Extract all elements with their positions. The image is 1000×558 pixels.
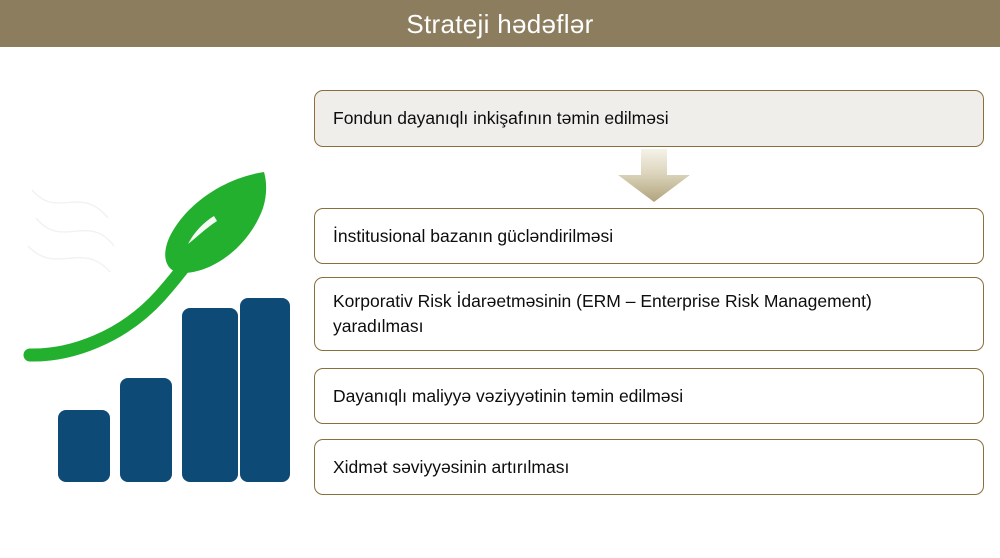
- down-arrow-icon: [616, 149, 692, 202]
- goal-box-3[interactable]: Dayanıqlı maliyyə vəziyyətinin təmin edi…: [314, 368, 984, 424]
- goal-box-1[interactable]: İnstitusional bazanın gücləndirilməsi: [314, 208, 984, 264]
- slide-header-band: Strateji hədəflər: [0, 0, 1000, 47]
- down-arrow-svg: [616, 149, 692, 202]
- growth-chart-leaf-graphic: [18, 160, 290, 482]
- background-sketch: [28, 190, 114, 272]
- slide-canvas: Strateji hədəflər Fondun dayanıqlı ink: [0, 0, 1000, 558]
- green-leaf: [165, 172, 266, 273]
- goal-box-primary[interactable]: Fondun dayanıqlı inkişafının təmin edilm…: [314, 90, 984, 147]
- page-title: Strateji hədəflər: [406, 11, 593, 37]
- growth-chart-svg: [18, 160, 290, 482]
- goal-box-primary-label: Fondun dayanıqlı inkişafının təmin edilm…: [333, 106, 669, 131]
- goal-box-2[interactable]: Korporativ Risk İdarəetməsinin (ERM – En…: [314, 277, 984, 351]
- chart-bar-2: [120, 378, 172, 482]
- goal-box-2-label: Korporativ Risk İdarəetməsinin (ERM – En…: [333, 289, 965, 339]
- goal-box-4[interactable]: Xidmət səviyyəsinin artırılması: [314, 439, 984, 495]
- chart-bar-3: [182, 308, 238, 482]
- goal-box-3-label: Dayanıqlı maliyyə vəziyyətinin təmin edi…: [333, 384, 683, 409]
- goal-box-4-label: Xidmət səviyyəsinin artırılması: [333, 455, 569, 480]
- goal-box-1-label: İnstitusional bazanın gücləndirilməsi: [333, 224, 613, 249]
- chart-bar-4: [240, 298, 290, 482]
- chart-bar-1: [58, 410, 110, 482]
